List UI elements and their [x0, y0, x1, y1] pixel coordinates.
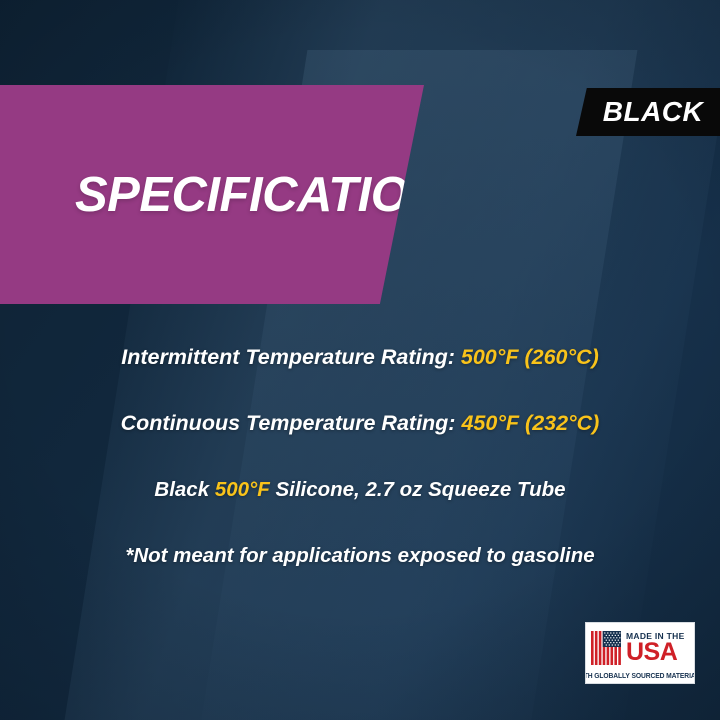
made-in-usa-badge-main: MADE IN THE USA — [586, 623, 694, 669]
color-badge-label: BLACK — [593, 96, 704, 128]
specifications-banner: SPECIFICATIONS — [0, 85, 424, 304]
spec-label-intermittent: Intermittent Temperature Rating: — [121, 345, 461, 369]
spec-line-disclaimer: *Not meant for applications exposed to g… — [0, 544, 720, 568]
spec-line-continuous-temperature: Continuous Temperature Rating: 450°F (23… — [0, 411, 720, 436]
spec-value-intermittent: 500°F (260°C) — [461, 345, 599, 369]
spec-value-continuous: 450°F (232°C) — [461, 411, 599, 435]
made-in-usa-badge: MADE IN THE USA WITH GLOBALLY SOURCED MA… — [585, 622, 695, 684]
spec-description-prefix: Black — [154, 478, 214, 501]
product-specifications-graphic: SPECIFICATIONS BLACK Intermittent Temper… — [0, 0, 720, 720]
spec-line-product-description: Black 500°F Silicone, 2.7 oz Squeeze Tub… — [0, 478, 720, 502]
spec-line-intermittent-temperature: Intermittent Temperature Rating: 500°F (… — [0, 345, 720, 370]
specifications-list: Intermittent Temperature Rating: 500°F (… — [0, 345, 720, 568]
made-in-usa-badge-footer: WITH GLOBALLY SOURCED MATERIALS — [586, 669, 694, 683]
spec-label-continuous: Continuous Temperature Rating: — [121, 411, 462, 435]
american-flag-icon — [591, 631, 621, 665]
color-badge: BLACK — [576, 88, 720, 136]
usa-label: USA — [626, 642, 685, 664]
globally-sourced-materials-label: WITH GLOBALLY SOURCED MATERIALS — [585, 673, 695, 680]
made-in-usa-text-column: MADE IN THE USA — [626, 632, 685, 663]
spec-description-suffix: Silicone, 2.7 oz Squeeze Tube — [270, 478, 566, 501]
spec-description-value: 500°F — [215, 478, 270, 501]
